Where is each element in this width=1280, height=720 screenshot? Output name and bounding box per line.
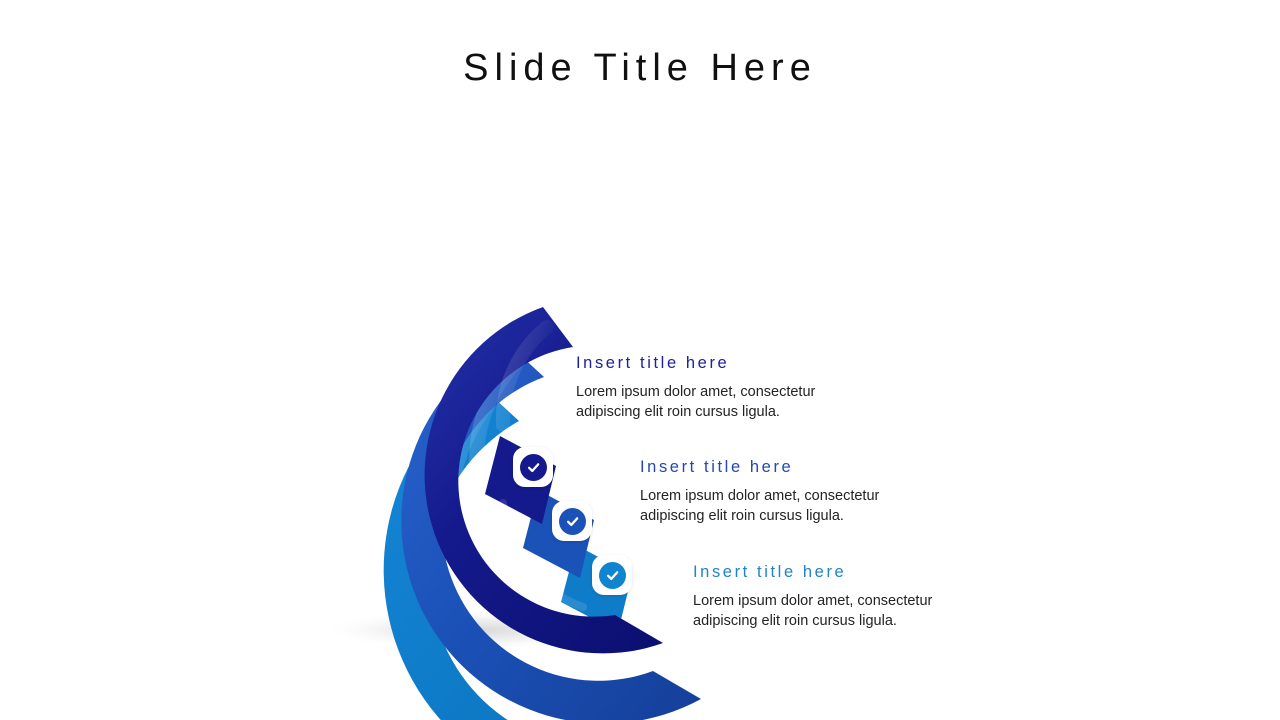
check-badge-2[interactable] <box>552 501 592 541</box>
page-title: Slide Title Here <box>0 48 1280 90</box>
content-item-2: Insert title here Lorem ipsum dolor amet… <box>640 458 879 527</box>
check-icon <box>520 454 547 481</box>
item-body-3: Lorem ipsum dolor amet, consectetur adip… <box>693 591 932 632</box>
item-title-1: Insert title here <box>576 354 815 374</box>
slide-canvas: Slide Title Here <box>0 0 1280 720</box>
check-badge-1[interactable] <box>513 447 553 487</box>
item-title-2: Insert title here <box>640 458 879 478</box>
content-item-1: Insert title here Lorem ipsum dolor amet… <box>576 354 815 423</box>
content-item-3: Insert title here Lorem ipsum dolor amet… <box>693 563 932 632</box>
check-badge-3[interactable] <box>592 555 632 595</box>
item-body-2: Lorem ipsum dolor amet, consectetur adip… <box>640 486 879 527</box>
check-icon <box>559 508 586 535</box>
item-title-3: Insert title here <box>693 563 932 583</box>
item-body-1: Lorem ipsum dolor amet, consectetur adip… <box>576 382 815 423</box>
check-icon <box>599 562 626 589</box>
